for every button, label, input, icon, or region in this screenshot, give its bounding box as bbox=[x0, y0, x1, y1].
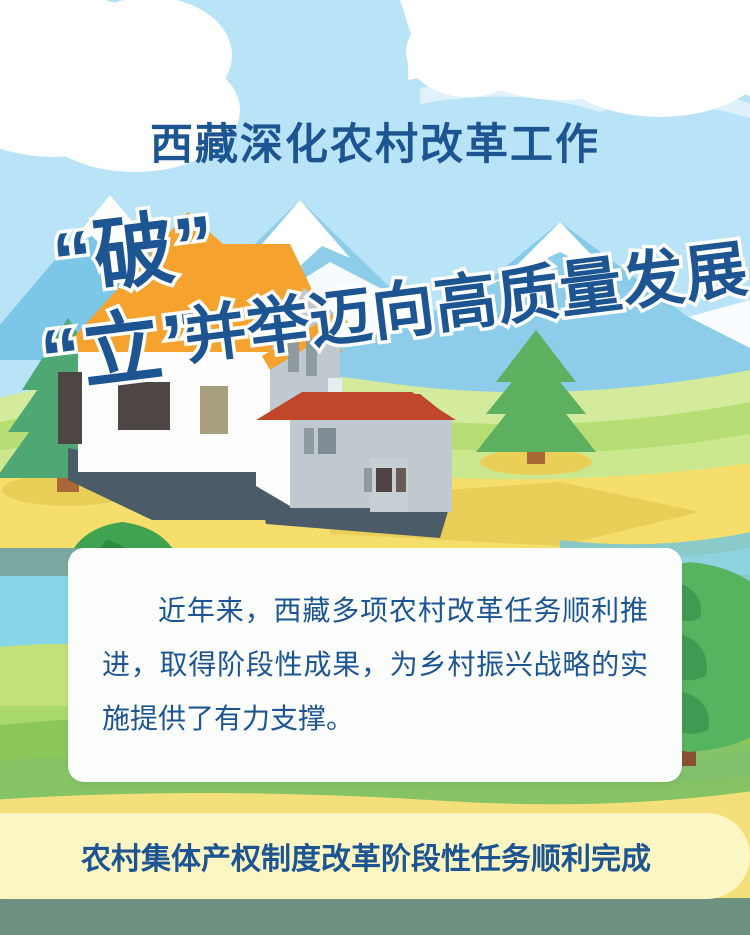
house2-window-lower-c bbox=[396, 468, 406, 492]
house2-window-lower-b bbox=[376, 468, 392, 492]
infographic-poster: 西藏深化农村改革工作 “破” “立” 并举迈向高质量发展 近年来，西藏多项农村改… bbox=[0, 0, 750, 935]
house2-window-lower-a bbox=[364, 468, 372, 492]
headline-rest: 并举迈向高质量发展 bbox=[179, 218, 750, 376]
bottom-banner: 农村集体产权制度改革阶段性任务顺利完成 bbox=[0, 813, 750, 899]
house2-window-upper-a bbox=[304, 428, 314, 454]
house1-window-right bbox=[200, 386, 228, 434]
house2-wall-right bbox=[408, 420, 452, 512]
bottom-green-strip bbox=[0, 898, 750, 935]
body-paragraph: 近年来，西藏多项农村改革任务顺利推进，取得阶段性成果，为乡村振兴战略的实施提供了… bbox=[102, 584, 648, 746]
body-text-card: 近年来，西藏多项农村改革任务顺利推进，取得阶段性成果，为乡村振兴战略的实施提供了… bbox=[68, 548, 682, 782]
house2-window-upper-b bbox=[318, 428, 336, 454]
page-title: 西藏深化农村改革工作 bbox=[0, 110, 750, 172]
bottom-banner-label: 农村集体产权制度改革阶段性任务顺利完成 bbox=[81, 834, 651, 878]
headline-group: “破” “立” 并举迈向高质量发展 bbox=[0, 180, 750, 370]
house-red-roof bbox=[256, 378, 456, 538]
